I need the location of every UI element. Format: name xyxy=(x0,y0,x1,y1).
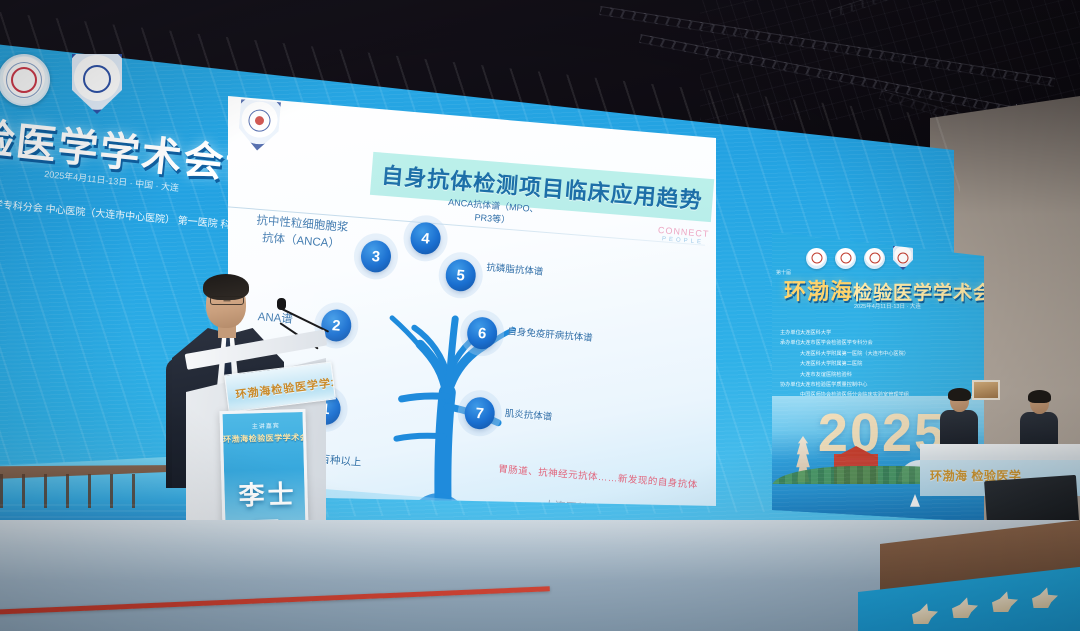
right-poster-edition: 第十届 xyxy=(776,270,791,277)
right-poster-org-labels: 主办单位： 承办单位： 协办单位： xyxy=(780,328,806,390)
circle-crest-icon xyxy=(0,54,50,106)
crest-icon xyxy=(835,248,856,269)
temple-icon xyxy=(834,454,878,486)
shield-crest-icon xyxy=(893,246,913,270)
glasses-icon xyxy=(210,296,244,305)
shield-crest-icon xyxy=(72,54,122,114)
right-poster-title-ink: 环渤海 xyxy=(784,279,853,304)
conference-photo-scene: 验医学学术会议 2025年4月11日-13日 · 中国 · 大连 医学专科分会 … xyxy=(0,0,1080,631)
nameplate-conference: 环渤海检验医学学术会议 xyxy=(223,432,309,445)
right-poster-title: 环渤海检验医学学术会议 xyxy=(784,274,1013,306)
left-screen-org-list: 医学专科分会 中心医院（大连市中心医院） 第一医院 科 检验分会 检验分会临床实… xyxy=(0,196,240,251)
nameplate-header: 主讲嘉宾 xyxy=(223,420,309,431)
crest-icon xyxy=(806,248,827,269)
pagoda-icon xyxy=(794,436,812,482)
microphone-icon xyxy=(277,298,286,310)
right-poster-org-values: 大连医科大学 大连市医学会检验医学专科分会 大连医科大学附属第一医院（大连市中心… xyxy=(800,328,909,401)
seated-person xyxy=(940,390,978,444)
right-poster-date: 2025年4月11日-13日 · 大连 xyxy=(854,302,921,310)
left-screen-logos xyxy=(0,54,122,114)
crest-icon xyxy=(864,248,885,269)
sailboat-icon xyxy=(910,494,920,510)
right-poster-logos xyxy=(806,246,913,270)
panel-table-group: 环渤海 检验医学 xyxy=(928,386,1080,536)
seated-person xyxy=(1020,392,1058,446)
